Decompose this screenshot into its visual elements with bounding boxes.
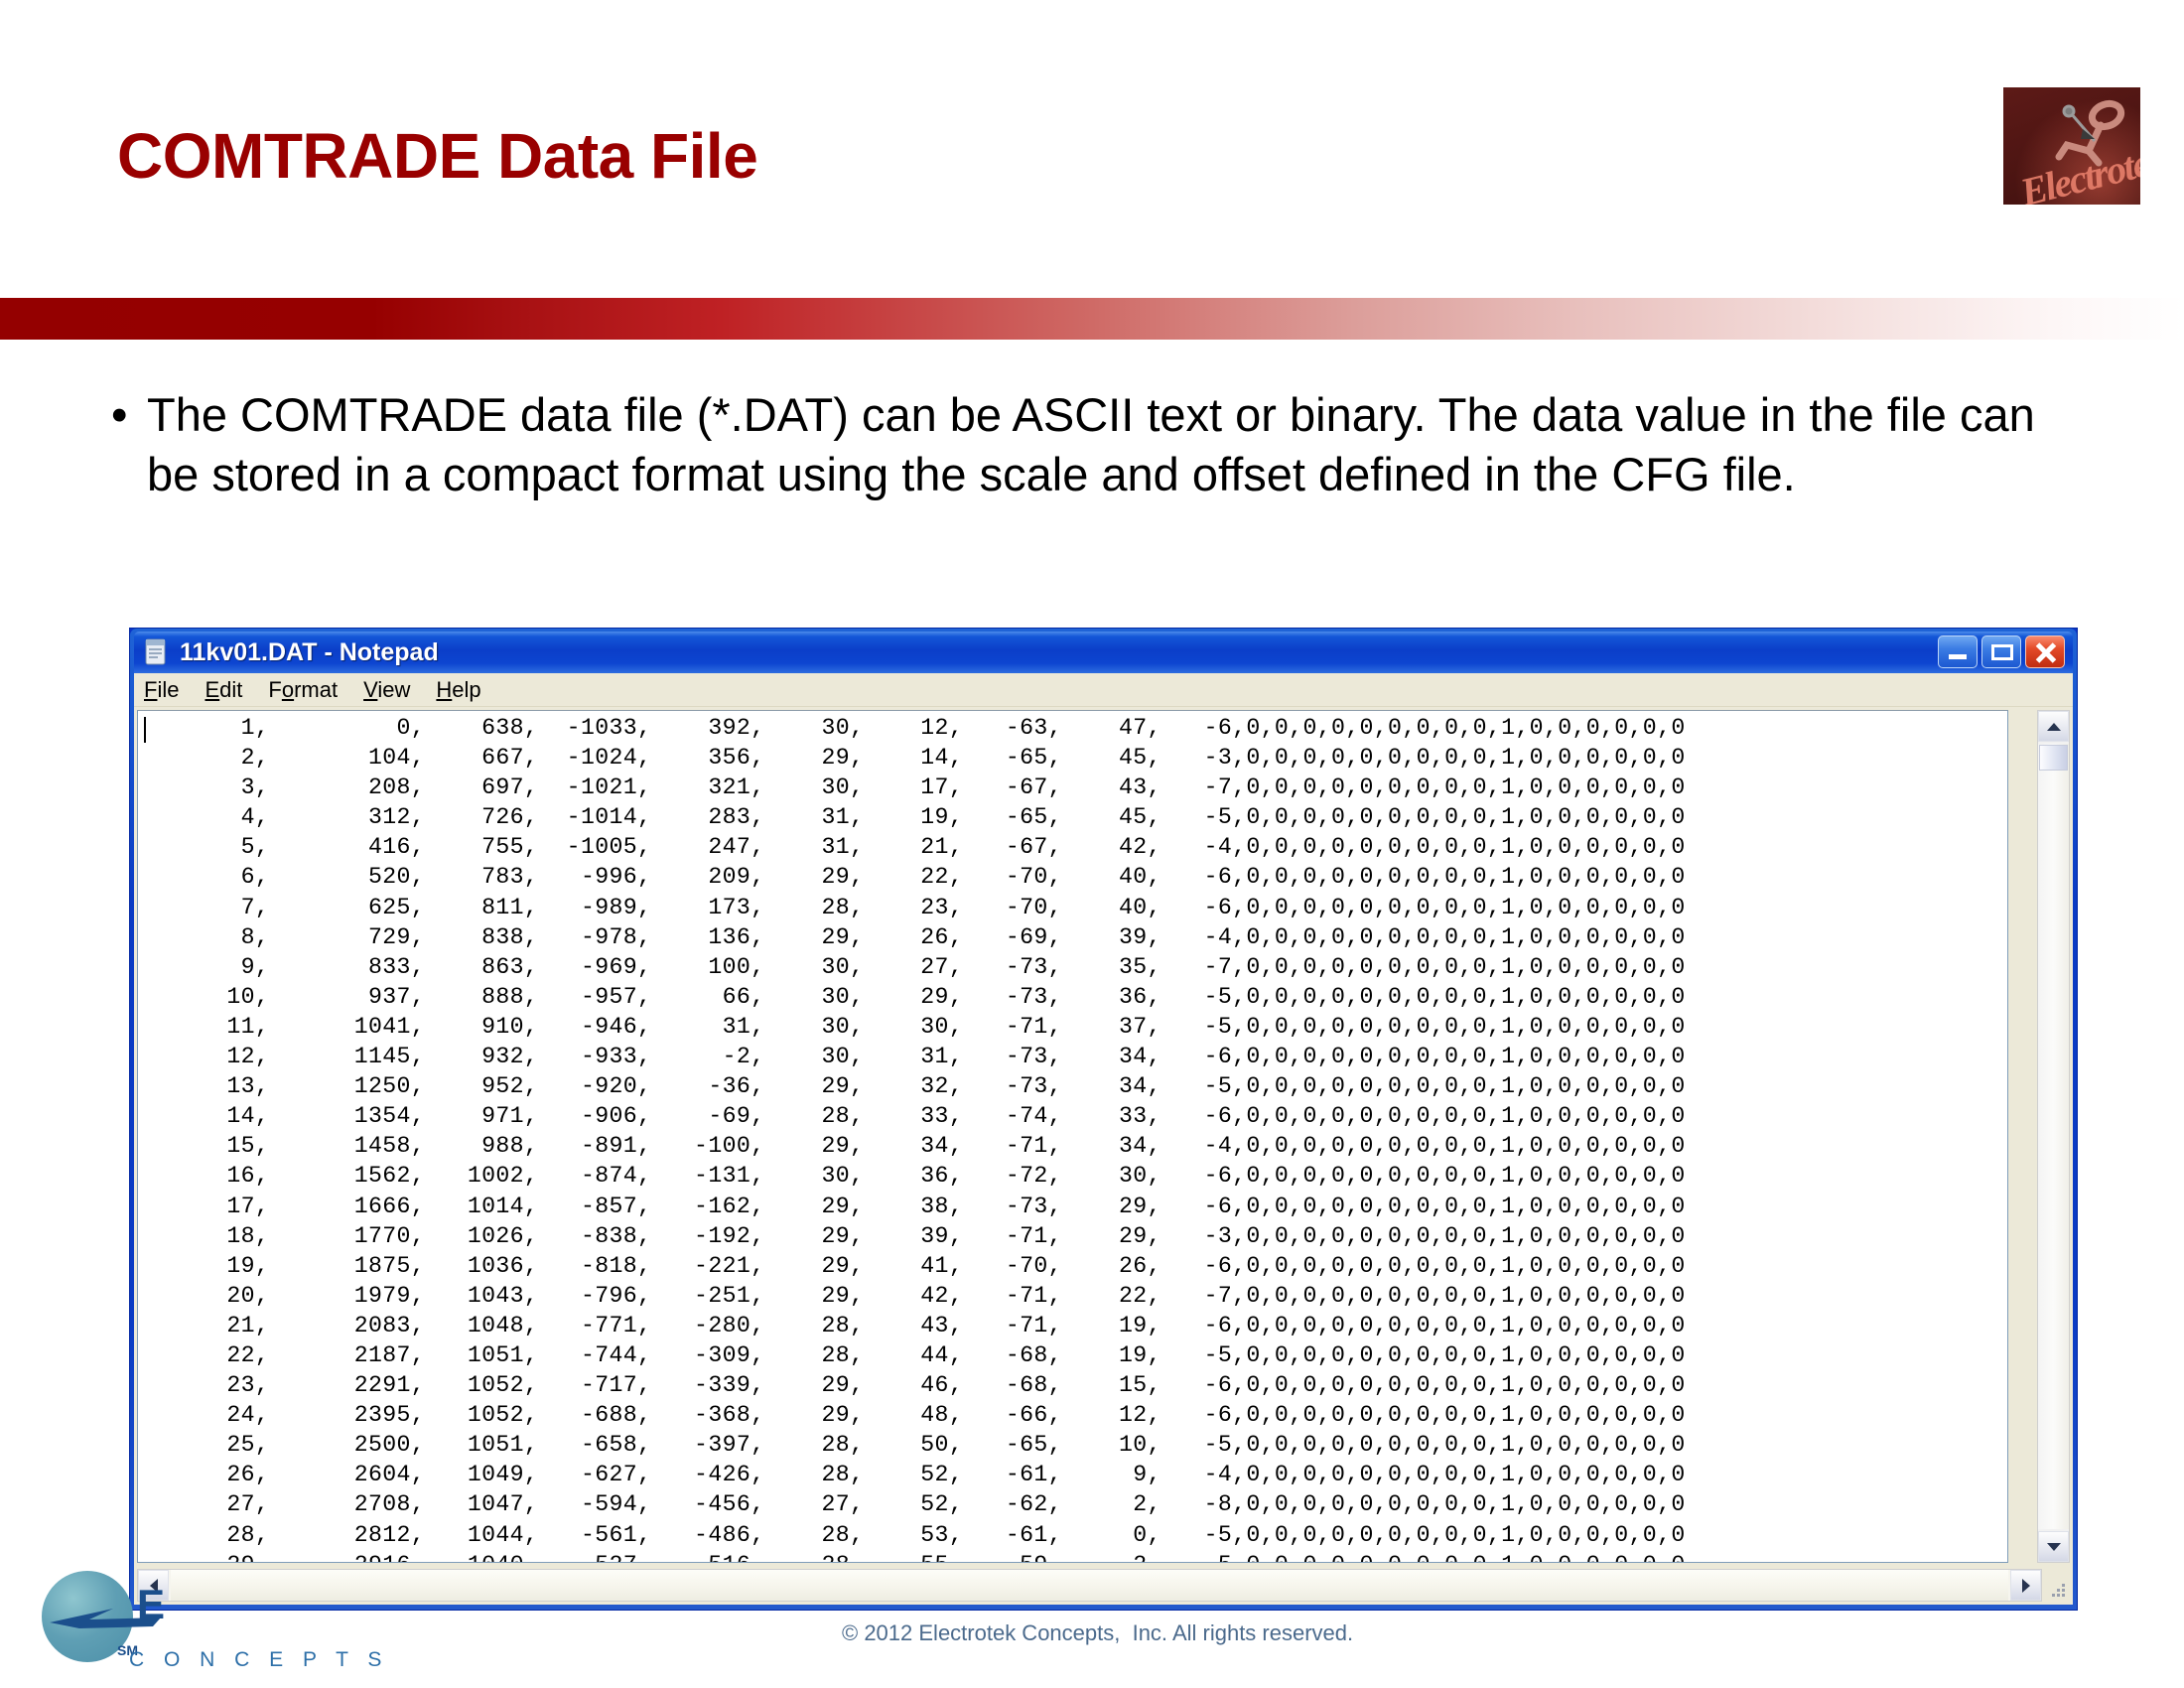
menu-item-help[interactable]: Help	[436, 677, 480, 703]
logo-letter: E	[137, 1581, 165, 1628]
header-divider-band	[0, 298, 2184, 340]
bullet-marker: •	[111, 385, 127, 445]
maximize-button[interactable]	[1981, 635, 2021, 668]
minimize-button[interactable]	[1938, 635, 1978, 668]
notepad-file-content[interactable]: 1, 0, 638, -1033, 392, 30, 12, -63, 47, …	[156, 713, 2007, 1563]
vertical-scrollbar-thumb[interactable]	[2039, 745, 2068, 771]
menu-item-edit[interactable]: Edit	[205, 677, 242, 703]
notepad-title-text: 11kv01.DAT - Notepad	[180, 638, 439, 667]
notepad-window[interactable]: 11kv01.DAT - Notepad FFileile Edit Forma…	[129, 628, 2078, 1611]
resize-grip-icon[interactable]	[2049, 1581, 2069, 1601]
close-button[interactable]	[2025, 635, 2065, 668]
bullet-text: The COMTRADE data file (*.DAT) can be AS…	[147, 385, 2077, 503]
window-controls[interactable]	[1938, 635, 2065, 668]
notepad-titlebar[interactable]: 11kv01.DAT - Notepad	[134, 632, 2073, 673]
text-caret	[144, 717, 146, 743]
notepad-menubar[interactable]: FFileile Edit Format View Help	[134, 673, 2073, 707]
logo-concepts-text: C O N C E P T S	[129, 1648, 388, 1672]
header-logo-image: Electrotek	[2003, 87, 2140, 205]
footer-logo: E SM C O N C E P T S	[42, 1569, 340, 1673]
menu-item-view[interactable]: View	[363, 677, 410, 703]
scroll-up-arrow-icon[interactable]	[2038, 711, 2069, 742]
notepad-text-area[interactable]: 1, 0, 638, -1033, 392, 30, 12, -63, 47, …	[137, 710, 2008, 1563]
horizontal-scrollbar-track[interactable]	[171, 1570, 2008, 1601]
scroll-down-arrow-icon[interactable]	[2038, 1531, 2069, 1562]
footer-copyright: © 2012 Electrotek Concepts, Inc. All rig…	[842, 1620, 1353, 1646]
menu-item-format[interactable]: Format	[268, 677, 338, 703]
menu-item-file[interactable]: FFileile	[144, 677, 179, 703]
body-bullet-block: • The COMTRADE data file (*.DAT) can be …	[111, 385, 2077, 503]
scroll-right-arrow-icon[interactable]	[2010, 1570, 2041, 1601]
notepad-client-area: 1, 0, 638, -1033, 392, 30, 12, -63, 47, …	[134, 707, 2073, 1605]
notepad-document-icon	[144, 638, 170, 666]
page-title: COMTRADE Data File	[117, 119, 757, 193]
vertical-scrollbar-track[interactable]	[2038, 744, 2069, 1529]
vertical-scrollbar[interactable]	[2037, 710, 2070, 1563]
horizontal-scrollbar[interactable]	[137, 1569, 2042, 1602]
